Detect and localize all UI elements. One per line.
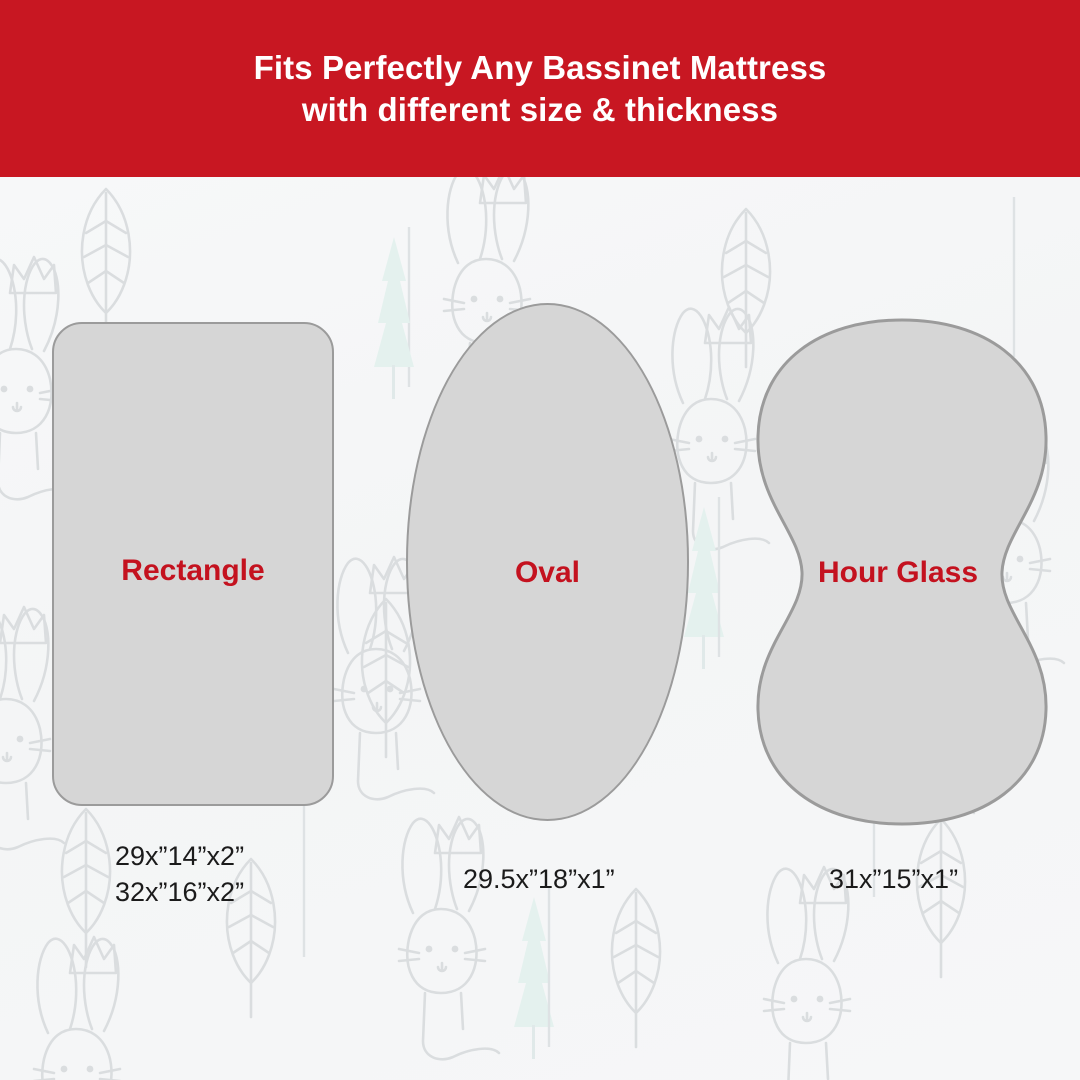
- oval-shape-label: Oval: [406, 556, 689, 590]
- product-infographic: Fits Perfectly Any Bassinet Mattress wit…: [0, 0, 1080, 1080]
- rectangle-dimensions: 29x”14”x2” 32x”16”x2”: [115, 838, 244, 910]
- hourglass-dimensions: 31x”15”x1”: [829, 861, 958, 897]
- rectangle-shape-label: Rectangle: [52, 554, 334, 588]
- shape-comparison-group: Rectangle Oval Hour Glass: [0, 0, 1080, 1080]
- oval-dimensions: 29.5x”18”x1”: [463, 861, 615, 897]
- hourglass-dimension-line-1: 31x”15”x1”: [829, 861, 958, 897]
- oval-dimension-line-1: 29.5x”18”x1”: [463, 861, 615, 897]
- rectangle-dimension-line-1: 29x”14”x2”: [115, 838, 244, 874]
- hourglass-shape-label: Hour Glass: [752, 556, 1044, 590]
- rectangle-dimension-line-2: 32x”16”x2”: [115, 874, 244, 910]
